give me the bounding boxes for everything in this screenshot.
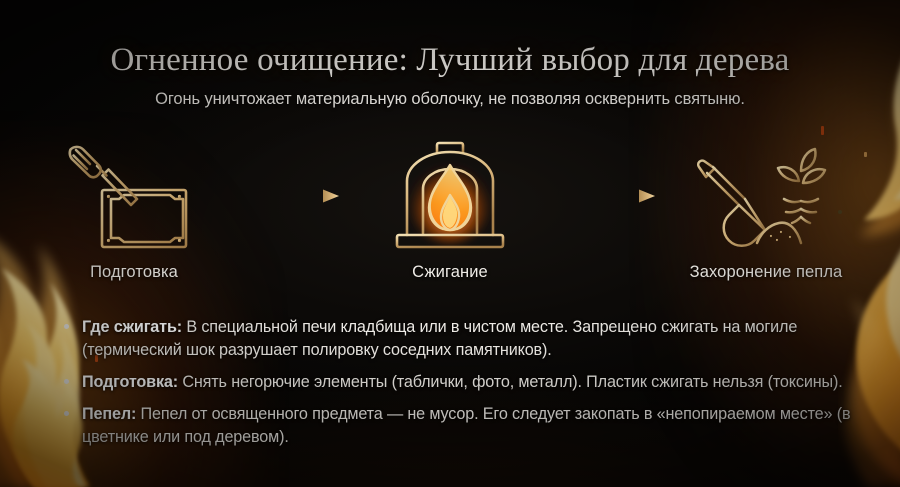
step-icon-wrapper	[691, 137, 841, 255]
process-step-preparation: Подготовка	[36, 137, 232, 282]
bullet-text: В специальной печи кладбища или в чистом…	[82, 318, 797, 359]
process-step-burning: Сжигание	[352, 137, 548, 282]
slide-root: Огненное очищение: Лучший выбор для дере…	[0, 0, 900, 487]
process-step-ash-burial: Захоронение пепла	[668, 137, 864, 282]
list-item: Подготовка: Снять негорючие элементы (та…	[62, 371, 852, 394]
bullet-list: Где сжигать: В специальной печи кладбища…	[62, 316, 852, 449]
step-label-burning: Сжигание	[412, 263, 488, 282]
step-icon-wrapper	[385, 137, 515, 255]
furnace-flame-icon	[385, 137, 515, 255]
process-arrow-2	[548, 137, 668, 255]
header: Огненное очищение: Лучший выбор для дере…	[0, 0, 900, 109]
page-subtitle: Огонь уничтожает материальную оболочку, …	[0, 78, 900, 109]
process-arrow-1	[232, 137, 352, 255]
bullet-lead: Подготовка:	[82, 373, 178, 391]
bullet-text: Пепел от освященного предмета — не мусор…	[82, 405, 850, 446]
process-diagram: Подготовка	[0, 137, 900, 302]
arrow-right-icon	[237, 186, 347, 206]
step-label-ash-burial: Захоронение пепла	[690, 263, 843, 282]
step-icon-wrapper	[64, 137, 204, 255]
screwdriver-plaque-icon	[64, 140, 204, 252]
bullet-lead: Пепел:	[82, 405, 136, 423]
ember-particle	[821, 126, 824, 135]
bullet-dot-icon	[64, 324, 69, 329]
list-item: Пепел: Пепел от освященного предмета — н…	[62, 403, 852, 449]
step-label-preparation: Подготовка	[90, 263, 178, 282]
bullet-dot-icon	[64, 411, 69, 416]
arrow-right-icon	[553, 186, 663, 206]
shovel-soil-plant-icon	[691, 137, 841, 255]
bullet-lead: Где сжигать:	[82, 318, 182, 336]
page-title: Огненное очищение: Лучший выбор для дере…	[0, 0, 900, 78]
bullet-text: Снять негорючие элементы (таблички, фото…	[178, 373, 843, 391]
bullet-dot-icon	[64, 379, 69, 384]
list-item: Где сжигать: В специальной печи кладбища…	[62, 316, 852, 362]
